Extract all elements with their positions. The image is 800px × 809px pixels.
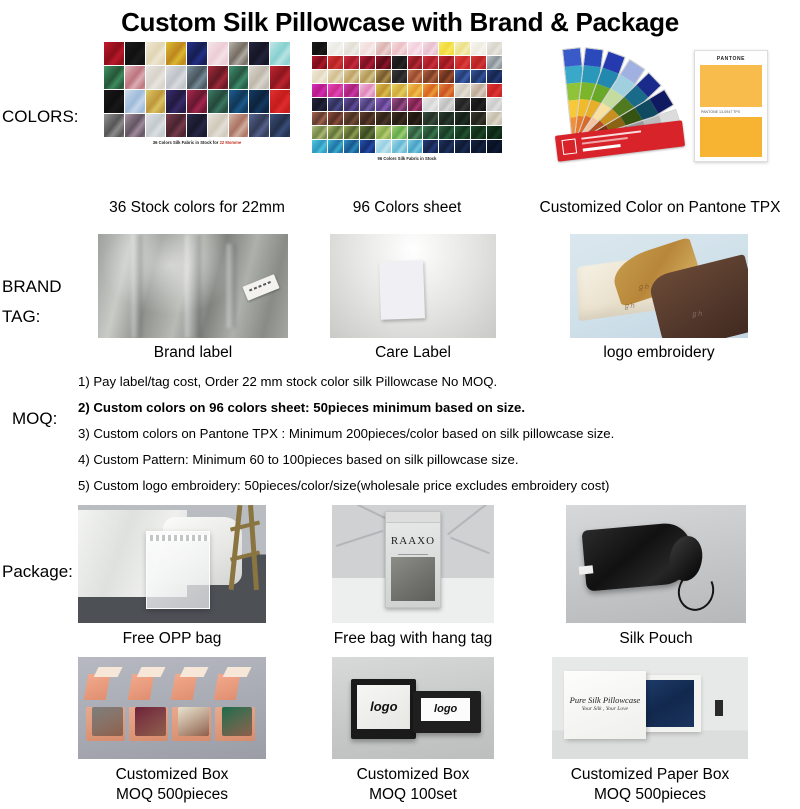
caption-hang-tag-bag: Free bag with hang tag: [322, 629, 504, 648]
color-swatch: [312, 56, 327, 69]
color-swatch: [439, 56, 454, 69]
color-swatch: [328, 84, 343, 97]
color-swatch: [146, 42, 166, 65]
logo-embroidery-photo: ℊℎ ℊℎ ℊℎ: [570, 234, 748, 338]
caption-opp-bag: Free OPP bag: [78, 629, 266, 648]
96-color-grid-note: 96 Colors Silk Fabric in Stock: [312, 156, 502, 162]
package-item-opp-bag[interactable]: [78, 505, 266, 623]
pantone-fan-deck: PANTONE PANTONE 13-0947 TPX Daylily: [530, 42, 780, 166]
caption-black-logo-box: Customized Box MOQ 100set: [322, 765, 504, 805]
color-swatch: [104, 90, 124, 113]
customized-coral-box-photo: [78, 657, 266, 759]
bag-brand-text: RAAXO: [386, 535, 439, 547]
logo-placeholder-text-1: logo: [370, 699, 397, 714]
package-section-label: Package:: [2, 561, 73, 583]
color-swatch: [487, 140, 502, 153]
color-swatch: [439, 84, 454, 97]
color-swatch: [408, 84, 423, 97]
color-swatch: [312, 126, 327, 139]
caption-silk-pouch: Silk Pouch: [566, 629, 746, 648]
color-swatch: [455, 56, 470, 69]
caption-coral-box: Customized Box MOQ 500pieces: [78, 765, 266, 805]
package-item-silk-pouch[interactable]: [566, 505, 746, 623]
color-swatch: [455, 112, 470, 125]
color-swatch: [187, 114, 207, 137]
96-color-swatch-sheet: 96 Colors Silk Fabric in Stock: [312, 42, 502, 162]
color-swatch: [439, 112, 454, 125]
color-swatch: [376, 70, 391, 83]
color-swatch: [270, 66, 290, 89]
color-swatch: [344, 126, 359, 139]
color-swatch: [376, 126, 391, 139]
color-swatch: [392, 112, 407, 125]
package-section-row1: Package: RAAXO: [0, 505, 800, 629]
color-swatch: [408, 112, 423, 125]
color-swatch: [455, 84, 470, 97]
caption-pantone: Customized Color on Pantone TPX: [524, 198, 796, 217]
color-swatch: [270, 90, 290, 113]
brand-tag-item-logo-embroidery[interactable]: ℊℎ ℊℎ ℊℎ: [570, 234, 748, 338]
color-swatch: [270, 42, 290, 65]
color-swatch: [360, 112, 375, 125]
color-swatch: [392, 42, 407, 55]
color-swatch: [146, 66, 166, 89]
moq-line-3: 3) Custom colors on Pantone TPX : Minimu…: [78, 425, 794, 442]
color-swatch: [423, 84, 438, 97]
color-swatch: [166, 66, 186, 89]
color-swatch: [376, 56, 391, 69]
package-row2-captions: Customized Box MOQ 500pieces Customized …: [0, 765, 800, 809]
36-color-grid-note: 36 Colors Silk Fabric in Stock for 22 Mo…: [104, 140, 290, 146]
color-swatch: [360, 140, 375, 153]
package-row1-captions: Free OPP bag Free bag with hang tag Silk…: [0, 629, 800, 657]
color-swatch: [487, 112, 502, 125]
brand-label-photo: [98, 234, 288, 338]
moq-lines-list: 1) Pay label/tag cost, Order 22 mm stock…: [78, 373, 794, 503]
caption-paper-box: Customized Paper Box MOQ 500pieces: [552, 765, 748, 805]
color-swatch: [392, 126, 407, 139]
color-swatch: [328, 98, 343, 111]
moq-section-label: MOQ:: [12, 409, 57, 429]
color-swatch: [312, 112, 327, 125]
color-swatch: [249, 90, 269, 113]
color-swatch: [408, 56, 423, 69]
color-swatch: [229, 114, 249, 137]
moq-line-2: 2) Custom colors on 96 colors sheet: 50p…: [78, 399, 794, 416]
color-swatch: [187, 66, 207, 89]
color-swatch: [487, 56, 502, 69]
color-swatch: [187, 90, 207, 113]
color-swatch: [455, 98, 470, 111]
color-swatch: [166, 90, 186, 113]
color-swatch: [208, 42, 228, 65]
brand-tag-item-care-label[interactable]: [330, 234, 496, 338]
color-swatch: [471, 140, 486, 153]
caption-paper-box-line2: MOQ 500pieces: [552, 785, 748, 805]
box-silk-insert: [222, 707, 253, 736]
silk-pouch-photo: [566, 505, 746, 623]
color-swatch: [423, 140, 438, 153]
color-swatch: [344, 112, 359, 125]
package-section-row2: logo logo Pure Silk Pillowcase Your Silk…: [0, 657, 800, 765]
paper-box-text-line1: Pure Silk Pillowcase: [564, 695, 646, 705]
pantone-color-block-top: [700, 65, 762, 107]
moq-line-4: 4) Custom Pattern: Minimum 60 to 100piec…: [78, 451, 794, 468]
color-swatch: [455, 126, 470, 139]
color-swatch: [376, 98, 391, 111]
colors-item-96-sheet[interactable]: 96 Colors Silk Fabric in Stock: [312, 42, 502, 170]
color-swatch: [146, 114, 166, 137]
color-swatch: [392, 70, 407, 83]
caption-36-stock: 36 Stock colors for 22mm: [100, 198, 294, 217]
colors-item-36-stock[interactable]: 36 Colors Silk Fabric in Stock for 22 Mo…: [104, 42, 290, 170]
color-swatch: [439, 140, 454, 153]
color-swatch: [392, 84, 407, 97]
color-swatch: [229, 90, 249, 113]
moq-section: MOQ: 1) Pay label/tag cost, Order 22 mm …: [0, 373, 800, 505]
color-swatch: [487, 42, 502, 55]
color-swatch: [328, 42, 343, 55]
color-swatch: [208, 90, 228, 113]
36-color-swatch-grid: 36 Colors Silk Fabric in Stock for 22 Mo…: [104, 42, 290, 162]
color-swatch: [360, 98, 375, 111]
pantone-chip-card: PANTONE PANTONE 13-0947 TPX Daylily: [694, 50, 768, 162]
color-swatch: [360, 70, 375, 83]
color-swatch: [471, 42, 486, 55]
color-swatch: [249, 42, 269, 65]
caption-paper-box-line1: Customized Paper Box: [552, 765, 748, 785]
color-swatch: [408, 126, 423, 139]
color-swatch: [312, 140, 327, 153]
color-swatch: [439, 42, 454, 55]
color-swatch: [471, 126, 486, 139]
color-swatch: [125, 114, 145, 137]
caption-coral-box-line2: MOQ 500pieces: [78, 785, 266, 805]
color-swatch: [229, 42, 249, 65]
color-swatch: [423, 56, 438, 69]
color-swatch: [312, 84, 327, 97]
brand-tag-section: BRAND TAG: ℊℎ ℊℎ ℊℎ: [0, 228, 800, 343]
color-swatch: [408, 98, 423, 111]
color-swatch: [344, 84, 359, 97]
color-swatch: [249, 114, 269, 137]
color-swatch: [104, 66, 124, 89]
color-swatch: [104, 42, 124, 65]
color-swatch: [408, 42, 423, 55]
colors-section-label: COLORS:: [2, 106, 79, 128]
hang-tag-bag: RAAXO: [385, 511, 440, 608]
package-item-black-logo-box[interactable]: logo logo: [332, 657, 494, 759]
color-swatch: [423, 70, 438, 83]
color-swatch: [408, 140, 423, 153]
paper-box-text-line2: Your Silk , Your Love: [564, 706, 646, 712]
color-swatch: [328, 140, 343, 153]
color-swatch: [344, 70, 359, 83]
color-swatch: [487, 126, 502, 139]
color-swatch: [344, 56, 359, 69]
pantone-code-text: PANTONE 13-0947 TPX: [695, 107, 767, 115]
color-swatch: [376, 84, 391, 97]
color-swatch: [187, 42, 207, 65]
pantone-brand-text: PANTONE: [695, 51, 767, 62]
color-swatch: [125, 90, 145, 113]
color-swatch: [344, 140, 359, 153]
color-swatch: [328, 126, 343, 139]
color-swatch: [312, 42, 327, 55]
box-silk-insert: [92, 707, 123, 736]
care-label-card: [379, 260, 425, 320]
color-swatch: [312, 98, 327, 111]
color-swatch: [455, 70, 470, 83]
color-swatch: [471, 98, 486, 111]
color-swatch: [392, 56, 407, 69]
colors-item-pantone[interactable]: PANTONE PANTONE 13-0947 TPX Daylily: [530, 42, 780, 170]
color-swatch: [423, 42, 438, 55]
color-swatch: [270, 114, 290, 137]
caption-coral-box-line1: Customized Box: [78, 765, 266, 785]
color-swatch: [392, 140, 407, 153]
color-swatch: [471, 70, 486, 83]
brand-tag-captions: Brand label Care Label logo embroidery: [0, 343, 800, 369]
page-title: Custom Silk Pillowcase with Brand & Pack…: [0, 0, 800, 38]
color-swatch: [125, 42, 145, 65]
color-swatch: [439, 126, 454, 139]
color-swatch: [455, 42, 470, 55]
color-swatch: [229, 66, 249, 89]
moq-line-1: 1) Pay label/tag cost, Order 22 mm stock…: [78, 373, 794, 390]
brand-tag-on-fabric: [242, 274, 279, 301]
package-item-hang-tag-bag[interactable]: RAAXO: [332, 505, 494, 623]
caption-96-sheet: 96 Colors sheet: [308, 198, 506, 217]
colors-captions: 36 Stock colors for 22mm 96 Colors sheet…: [0, 198, 800, 222]
customized-black-logo-box-photo: logo logo: [332, 657, 494, 759]
color-swatch: [328, 70, 343, 83]
color-swatch: [360, 84, 375, 97]
brand-tag-label-line1: BRAND: [2, 276, 62, 298]
color-swatch: [408, 70, 423, 83]
color-swatch: [439, 98, 454, 111]
color-swatch: [439, 70, 454, 83]
box-silk-insert: [178, 707, 209, 736]
color-swatch: [249, 66, 269, 89]
color-swatch: [146, 90, 166, 113]
pantone-color-block-bottom: [700, 117, 762, 157]
caption-black-box-line2: MOQ 100set: [322, 785, 504, 805]
color-swatch: [360, 126, 375, 139]
color-swatch: [376, 112, 391, 125]
color-swatch: [208, 66, 228, 89]
color-swatch: [360, 56, 375, 69]
color-swatch: [487, 84, 502, 97]
color-swatch: [125, 66, 145, 89]
color-swatch: [471, 56, 486, 69]
color-swatch: [423, 98, 438, 111]
color-swatch: [344, 98, 359, 111]
color-swatch: [104, 114, 124, 137]
opp-bag-photo: [78, 505, 266, 623]
caption-logo-embroidery: logo embroidery: [570, 343, 748, 362]
box-silk-insert: [135, 707, 166, 736]
color-swatch: [312, 70, 327, 83]
care-label-photo: [330, 234, 496, 338]
caption-black-box-line1: Customized Box: [322, 765, 504, 785]
color-swatch: [423, 126, 438, 139]
color-swatch: [487, 98, 502, 111]
color-swatch: [328, 112, 343, 125]
color-swatch: [487, 70, 502, 83]
color-swatch: [376, 140, 391, 153]
color-swatch: [471, 84, 486, 97]
logo-placeholder-text-2: logo: [434, 703, 457, 715]
hang-tag-bag-photo: RAAXO: [332, 505, 494, 623]
brand-tag-label-line2: TAG:: [2, 306, 40, 328]
customized-paper-box-photo: Pure Silk Pillowcase Your Silk , Your Lo…: [552, 657, 748, 759]
color-swatch: [376, 42, 391, 55]
brand-tag-item-brand-label[interactable]: [98, 234, 288, 338]
caption-brand-label: Brand label: [98, 343, 288, 362]
color-swatch: [455, 140, 470, 153]
color-swatch: [423, 112, 438, 125]
moq-line-5: 5) Custom logo embroidery: 50pieces/colo…: [78, 477, 794, 494]
color-swatch: [471, 112, 486, 125]
colors-section: COLORS: 36 Colors Silk Fabric in Stock f…: [0, 38, 800, 198]
package-item-paper-box[interactable]: Pure Silk Pillowcase Your Silk , Your Lo…: [552, 657, 748, 759]
color-swatch: [166, 42, 186, 65]
package-item-coral-box[interactable]: [78, 657, 266, 759]
color-swatch: [392, 98, 407, 111]
color-swatch: [166, 114, 186, 137]
color-swatch: [208, 114, 228, 137]
color-swatch: [328, 56, 343, 69]
color-swatch: [360, 42, 375, 55]
color-swatch: [344, 42, 359, 55]
caption-care-label: Care Label: [330, 343, 496, 362]
